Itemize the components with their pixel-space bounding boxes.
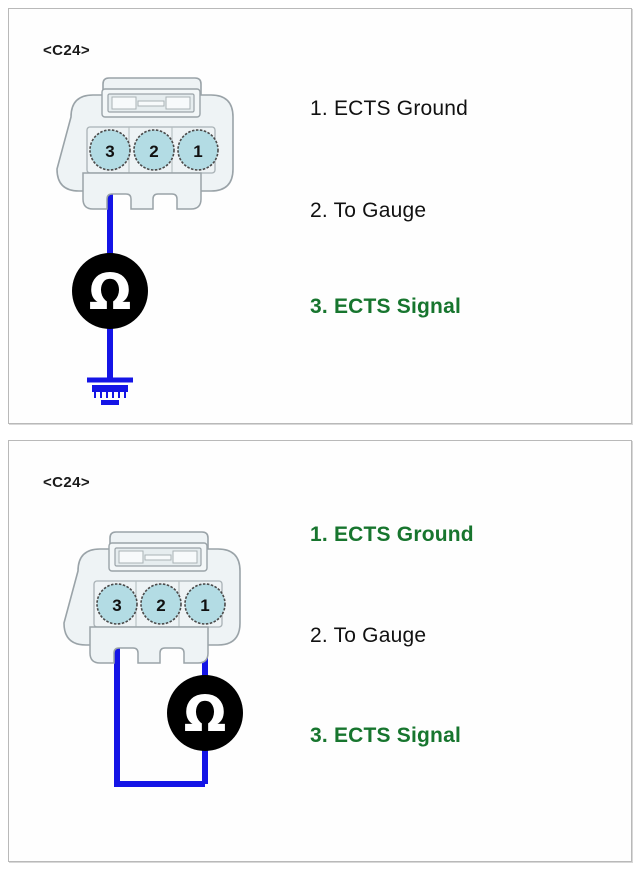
- ohmmeter-bottom: Ω: [167, 675, 243, 751]
- legend-item-2-top: 2. To Gauge: [310, 199, 426, 223]
- diagram-page: <C24>: [0, 0, 642, 872]
- pin-2-top[interactable]: 2: [134, 130, 174, 170]
- legend-item-2-bottom: 2. To Gauge: [310, 624, 426, 648]
- panel-top: <C24>: [8, 8, 632, 424]
- legend-item-3-bottom: 3. ECTS Signal: [310, 724, 461, 748]
- legend-item-1-bottom: 1. ECTS Ground: [310, 523, 474, 547]
- pin-1-label-top: 1: [193, 142, 202, 161]
- ground-symbol-top: [87, 380, 133, 405]
- legend-item-3-top: 3. ECTS Signal: [310, 295, 461, 319]
- ohmmeter-glyph-top: Ω: [89, 263, 132, 321]
- pin-3-label-top: 3: [105, 142, 114, 161]
- pin-2-label-top: 2: [149, 142, 158, 161]
- ohmmeter-glyph-bottom: Ω: [184, 685, 227, 743]
- pin-3-label-bottom: 3: [112, 596, 121, 615]
- pin-1-bottom[interactable]: 1: [185, 584, 225, 624]
- pin-1-top[interactable]: 1: [178, 130, 218, 170]
- ohmmeter-top: Ω: [72, 253, 148, 329]
- pin-1-label-bottom: 1: [200, 596, 209, 615]
- pin-3-top[interactable]: 3: [90, 130, 130, 170]
- panel-bottom: <C24> 3: [8, 440, 632, 862]
- pin-2-label-bottom: 2: [156, 596, 165, 615]
- wiring-diagram-bottom: 3 2 1 Ω: [9, 441, 633, 863]
- pin-3-bottom[interactable]: 3: [97, 584, 137, 624]
- pin-2-bottom[interactable]: 2: [141, 584, 181, 624]
- legend-item-1-top: 1. ECTS Ground: [310, 97, 468, 121]
